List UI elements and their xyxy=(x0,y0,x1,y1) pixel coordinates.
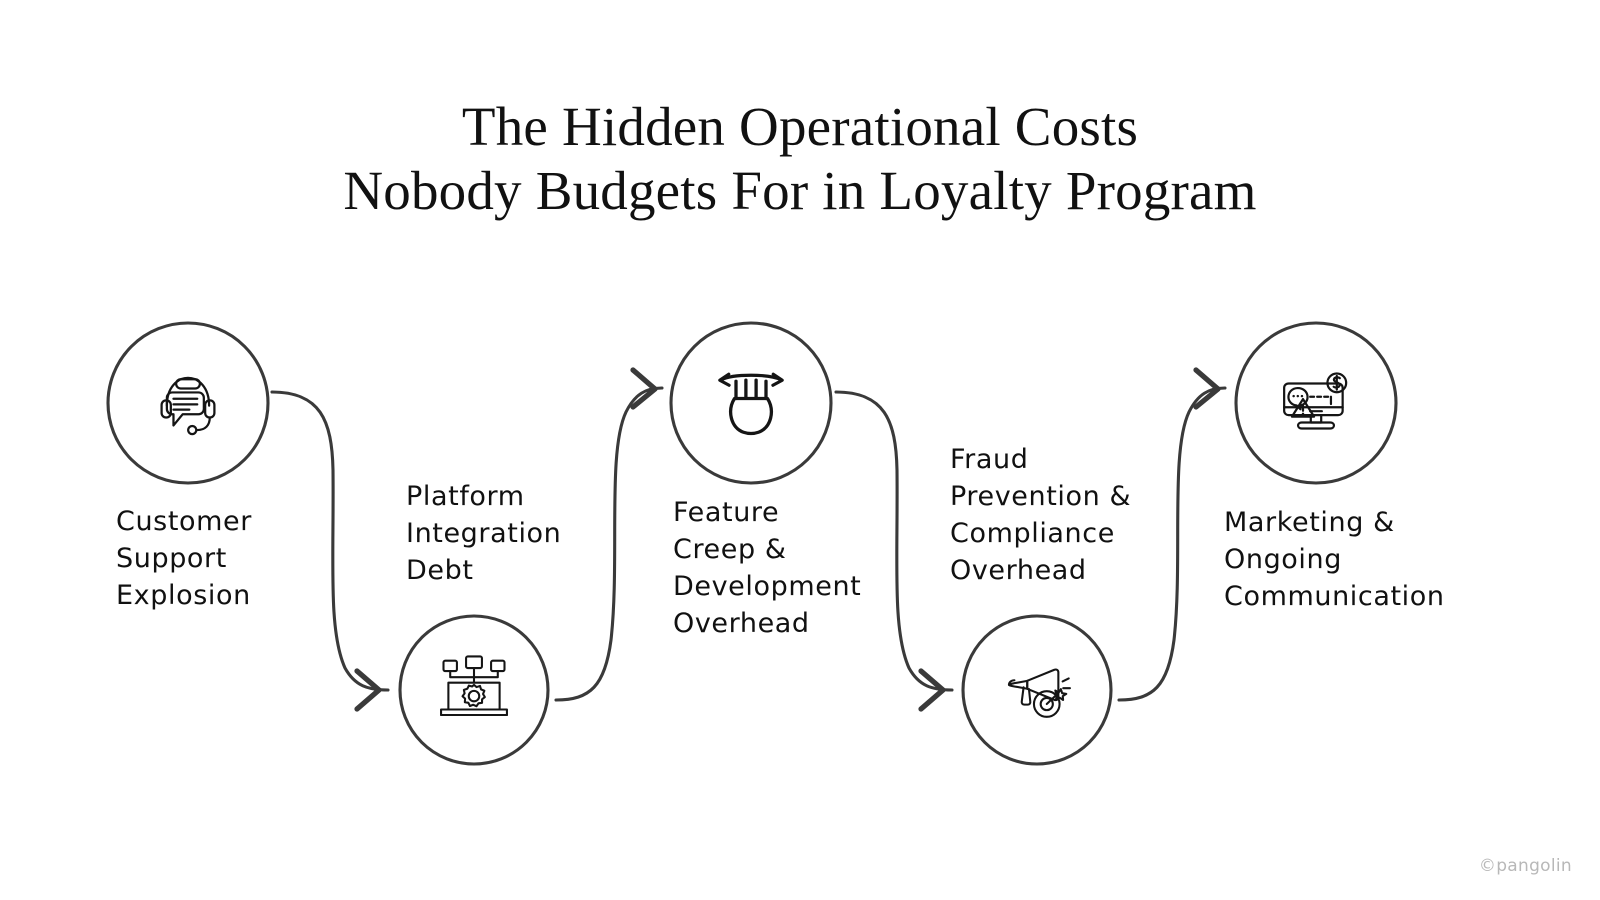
node-label-1: Customer Support Explosion xyxy=(116,503,346,614)
infographic-canvas: The Hidden Operational Costs Nobody Budg… xyxy=(0,0,1600,900)
node-circle-5[interactable] xyxy=(1236,323,1396,483)
node-label-3: Feature Creep & Development Overhead xyxy=(673,494,923,642)
node-circle-3[interactable] xyxy=(671,323,831,483)
node-circle-2[interactable] xyxy=(400,616,548,764)
node-circle-1[interactable] xyxy=(108,323,268,483)
expand-scope-creep-icon xyxy=(720,374,782,433)
headset-support-chat-icon xyxy=(162,378,215,434)
page-title: The Hidden Operational Costs Nobody Budg… xyxy=(0,95,1600,223)
laptop-gear-network-icon xyxy=(441,656,507,715)
node-circle-4[interactable] xyxy=(963,616,1111,764)
megaphone-target-icon xyxy=(1009,670,1070,717)
node-label-4: Fraud Prevention & Compliance Overhead xyxy=(950,441,1200,589)
node-label-5: Marketing & Ongoing Communication xyxy=(1224,504,1494,615)
node-label-2: Platform Integration Debt xyxy=(406,478,636,589)
monitor-fraud-alert-dollar-icon xyxy=(1284,373,1346,428)
watermark: ©pangolin xyxy=(1479,856,1572,876)
